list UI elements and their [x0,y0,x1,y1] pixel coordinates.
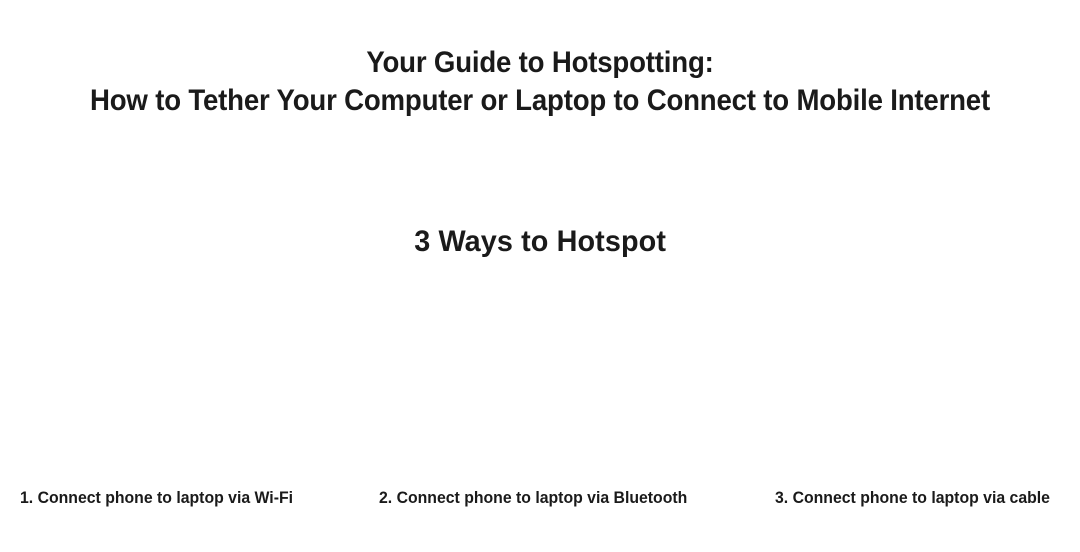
illustration-slot-bluetooth [360,280,720,480]
illustration-slot-wifi [0,280,360,480]
page-title: Your Guide to Hotspotting: How to Tether… [0,44,1080,120]
page-title-line-1: Your Guide to Hotspotting: [43,44,1037,82]
step-caption-bluetooth: 2. Connect phone to laptop via Bluetooth [379,487,687,509]
step-caption-wifi: 1. Connect phone to laptop via Wi-Fi [20,487,293,509]
section-heading-label: 3 Ways to Hotspot [414,222,666,262]
illustration-area [0,280,1080,480]
step-caption-cable: 3. Connect phone to laptop via cable [775,487,1050,509]
illustration-slot-cable [720,280,1080,480]
page-title-line-2: How to Tether Your Computer or Laptop to… [43,82,1037,120]
infographic-page: Your Guide to Hotspotting: How to Tether… [0,0,1080,552]
section-heading: 3 Ways to Hotspot [0,222,1080,262]
steps-row: 1. Connect phone to laptop via Wi-Fi 2. … [0,487,1080,513]
